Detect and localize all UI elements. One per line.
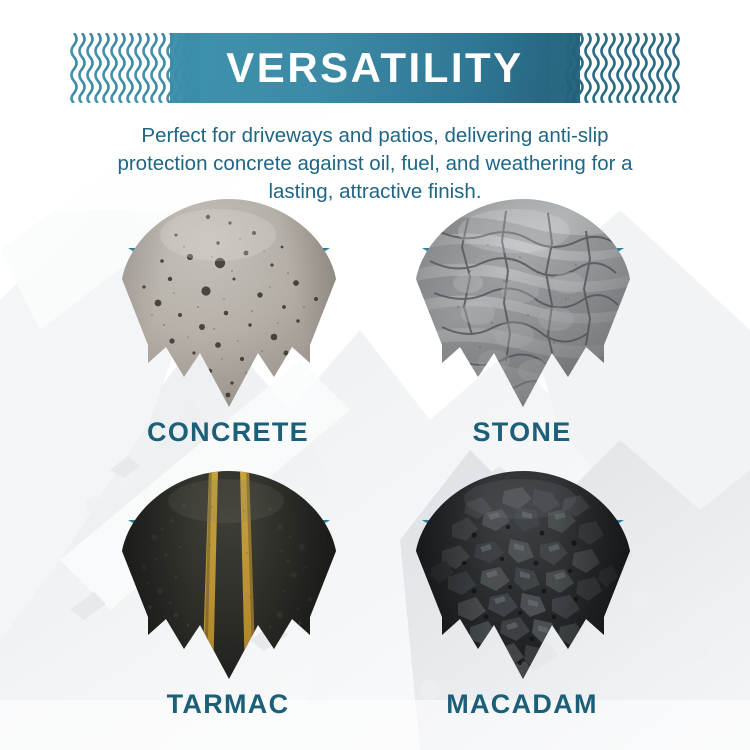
intro-paragraph: Perfect for driveways and patios, delive… bbox=[95, 122, 655, 206]
tarmac-wedge-swatch-icon bbox=[114, 467, 344, 682]
material-card-tarmac[interactable]: TARMAC bbox=[78, 467, 378, 732]
material-label-stone: STONE bbox=[372, 417, 672, 448]
concrete-wedge-swatch-icon bbox=[114, 195, 344, 410]
material-card-macadam[interactable]: MACADAM bbox=[372, 467, 672, 732]
macadam-wedge-swatch-icon bbox=[408, 467, 638, 682]
material-label-concrete: CONCRETE bbox=[78, 417, 378, 448]
material-swatch-tarmac bbox=[114, 467, 344, 682]
material-swatch-macadam bbox=[408, 467, 638, 682]
material-swatch-stone bbox=[408, 195, 638, 410]
header-banner: VERSATILITY bbox=[70, 33, 680, 103]
stone-wedge-swatch-icon bbox=[408, 195, 638, 410]
material-swatch-concrete bbox=[114, 195, 344, 410]
material-label-tarmac: TARMAC bbox=[78, 689, 378, 720]
material-card-concrete[interactable]: CONCRETE bbox=[78, 195, 378, 460]
materials-grid: CONCRETE bbox=[0, 195, 750, 735]
page-title: VERSATILITY bbox=[170, 33, 580, 103]
material-label-macadam: MACADAM bbox=[372, 689, 672, 720]
material-card-stone[interactable]: STONE bbox=[372, 195, 672, 460]
